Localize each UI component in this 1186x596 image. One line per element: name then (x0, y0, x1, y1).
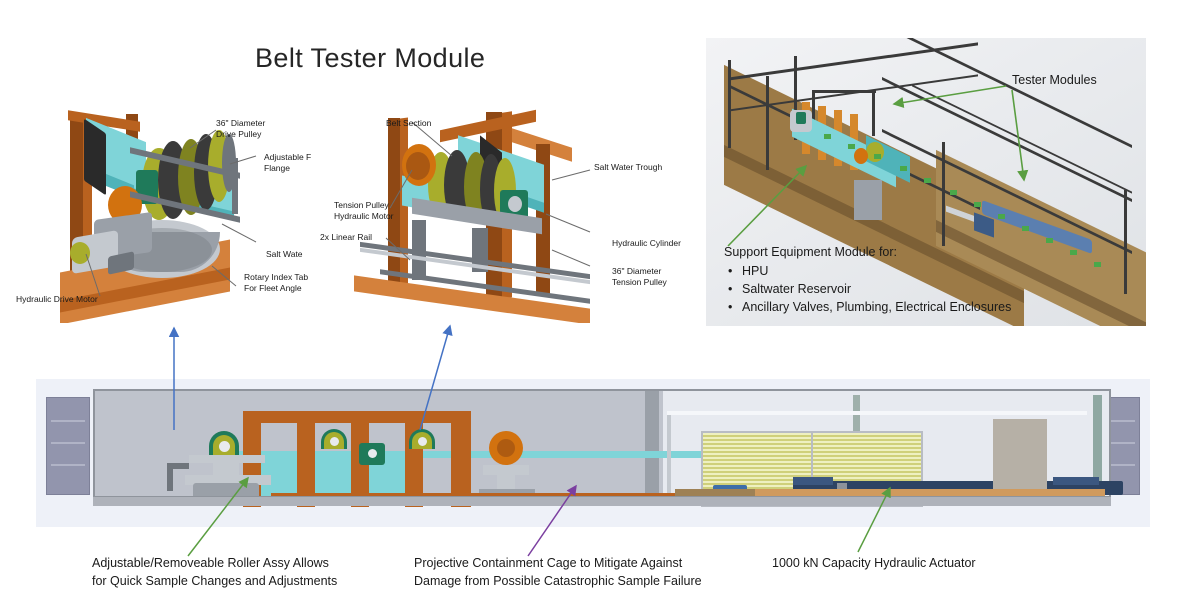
label-drive-pulley: 36" Diameter Drive Pulley (216, 118, 265, 139)
caption-containment-cage: Projective Containment Cage to Mitigate … (414, 554, 702, 590)
container-door-left (46, 397, 90, 495)
label-adjustable-flange: Adjustable F Flange (264, 152, 311, 173)
slide-canvas: Belt Tester Module (0, 0, 1186, 596)
caption-roller-assy: Adjustable/Removeable Roller Assy Allows… (92, 554, 337, 590)
label-hydraulic-cylinder: Hydraulic Cylinder (612, 238, 681, 249)
support-equipment-list: HPU Saltwater Reservoir Ancillary Valves… (724, 262, 1011, 316)
label-belt-section: Belt Section (386, 118, 431, 129)
label-tension-pulley: 36" Diameter Tension Pulley (612, 266, 667, 287)
label-hydraulic-drive-motor: Hydraulic Drive Motor (16, 294, 98, 305)
container-shell (93, 389, 1111, 506)
container-section-view (36, 379, 1150, 527)
label-salt-water: Salt Wate (266, 249, 303, 260)
caption-hydraulic-actuator: 1000 kN Capacity Hydraulic Actuator (772, 554, 976, 572)
page-title: Belt Tester Module (255, 43, 485, 74)
label-linear-rail: 2x Linear Rail (320, 232, 372, 243)
label-tension-pulley-motor: Tension Pulley Hydraulic Motor (334, 200, 394, 221)
list-item: HPU (724, 262, 1011, 280)
callout-tester-modules: Tester Modules (1012, 72, 1097, 89)
support-equipment-heading: Support Equipment Module for: (724, 244, 897, 261)
skid-overview-view: Tester Modules Support Equipment Module … (706, 38, 1146, 326)
label-rotary-index-table: Rotary Index Tab For Fleet Angle (244, 272, 308, 293)
list-item: Saltwater Reservoir (724, 280, 1011, 298)
label-salt-water-trough: Salt Water Trough (594, 162, 662, 173)
list-item: Ancillary Valves, Plumbing, Electrical E… (724, 298, 1011, 316)
